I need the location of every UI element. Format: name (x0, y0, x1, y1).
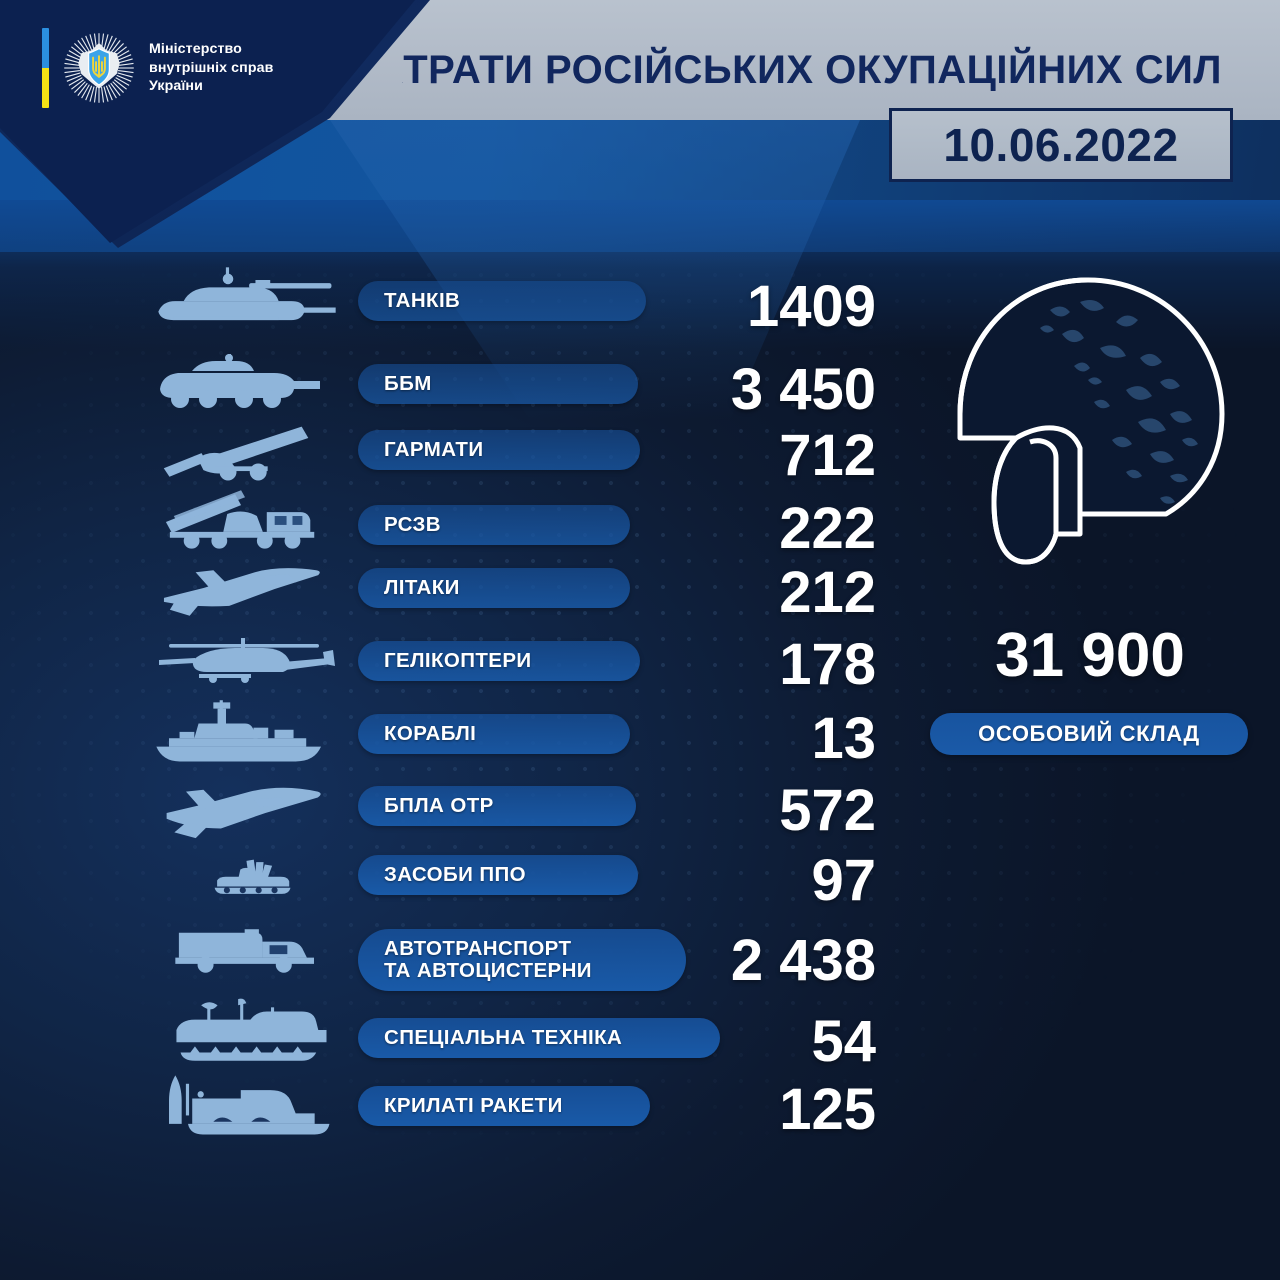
special-vehicle-icon (160, 996, 345, 1068)
category-label: ГАРМАТИ (384, 439, 483, 461)
personnel-label: ОСОБОВИЙ СКЛАД (978, 721, 1200, 747)
loss-value: 1409 (576, 273, 876, 340)
loss-value: 178 (576, 631, 876, 698)
category-label: ЛІТАКИ (384, 577, 460, 599)
category-label: ЗАСОБИ ППО (384, 864, 526, 886)
warship-icon (150, 700, 340, 768)
loss-value: 54 (576, 1008, 876, 1075)
air-defence-icon (200, 842, 310, 914)
artillery-icon (160, 424, 330, 486)
loss-value: 13 (576, 705, 876, 772)
losses-list: ТАНКІВ1409 ББМ3 450 ГАРМАТИ712 РСЗВ222 (0, 0, 900, 1280)
drone-icon (158, 780, 338, 842)
loss-value: 125 (576, 1076, 876, 1143)
category-label: РСЗВ (384, 514, 441, 536)
mlrs-icon (158, 485, 336, 551)
category-label: ТАНКІВ (384, 290, 460, 312)
loss-value: 2 438 (576, 927, 876, 994)
personnel-value: 31 900 (900, 620, 1280, 691)
loss-value: 3 450 (576, 356, 876, 423)
loss-value: 222 (576, 495, 876, 562)
jet-icon (160, 558, 338, 622)
category-label: ГЕЛІКОПТЕРИ (384, 650, 532, 672)
tank-icon (152, 265, 342, 333)
category-label: ББМ (384, 373, 432, 395)
category-label: КОРАБЛІ (384, 723, 476, 745)
apc-icon (152, 348, 332, 414)
loss-value: 97 (576, 847, 876, 914)
category-label: БПЛА ОТР (384, 795, 494, 817)
loss-value: 212 (576, 559, 876, 626)
helmet-icon (930, 262, 1240, 592)
helicopter-icon (150, 630, 340, 694)
infographic-canvas: Міністерство внутрішніх справ України ВТ… (0, 0, 1280, 1280)
date-badge: 10.06.2022 (889, 108, 1233, 182)
personnel-label-pill: ОСОБОВИЙ СКЛАД (930, 713, 1248, 755)
cruise-missile-icon (150, 1068, 340, 1146)
category-label: КРИЛАТІ РАКЕТИ (384, 1095, 563, 1117)
truck-icon (170, 912, 330, 982)
loss-value: 712 (576, 422, 876, 489)
loss-value: 572 (576, 777, 876, 844)
category-label: АВТОТРАНСПОРТ ТА АВТОЦИСТЕРНИ (384, 938, 592, 981)
date-value: 10.06.2022 (943, 118, 1178, 172)
